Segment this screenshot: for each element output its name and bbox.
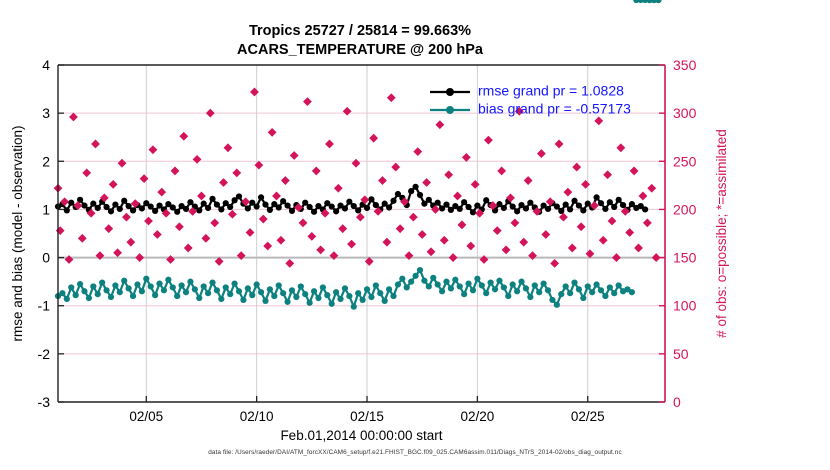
data-point (501, 205, 507, 211)
data-point (165, 277, 171, 283)
data-point (205, 205, 211, 211)
data-point (514, 208, 520, 214)
data-point (262, 202, 268, 208)
data-point (426, 197, 432, 203)
tick-label-right: 50 (673, 346, 689, 362)
data-point (545, 206, 551, 212)
data-point (148, 203, 154, 209)
data-point (611, 290, 617, 296)
data-point (139, 288, 145, 294)
data-point (333, 289, 339, 295)
data-point (81, 202, 87, 208)
data-point (435, 200, 441, 206)
data-point (108, 208, 114, 214)
data-point (412, 273, 418, 279)
data-point (187, 199, 193, 205)
data-point (408, 279, 414, 285)
data-point (602, 206, 608, 212)
tick-label-right: 0 (673, 394, 681, 410)
data-point (368, 196, 374, 202)
data-point (342, 285, 348, 291)
axis-label-left: rmse and bias (model - observation) (10, 125, 25, 341)
data-point (452, 277, 458, 283)
data-point (616, 197, 622, 203)
data-point (593, 194, 599, 200)
data-point (642, 206, 648, 212)
data-point (448, 285, 454, 291)
data-point (355, 207, 361, 213)
data-point (382, 298, 388, 304)
data-point (364, 205, 370, 211)
data-point (183, 289, 189, 295)
legend-marker-rmse (446, 88, 454, 96)
data-point (95, 205, 101, 211)
data-point (152, 208, 158, 214)
data-point (567, 290, 573, 296)
data-point (126, 285, 132, 291)
data-point (284, 299, 290, 305)
data-point (267, 207, 273, 213)
data-point (571, 198, 577, 204)
data-point (139, 205, 145, 211)
tick-label-right: 250 (673, 153, 697, 169)
data-point (240, 297, 246, 303)
data-point (161, 287, 167, 293)
data-point (390, 293, 396, 299)
data-point (73, 292, 79, 298)
data-point (554, 203, 560, 209)
data-point (408, 188, 414, 194)
data-point (307, 204, 313, 210)
data-point (258, 194, 264, 200)
data-point (148, 283, 154, 289)
data-point (99, 280, 105, 286)
data-point (245, 285, 251, 291)
data-point (368, 294, 374, 300)
data-point (629, 289, 635, 295)
data-point (386, 204, 392, 210)
tick-label-bottom: 02/10 (240, 409, 274, 424)
data-point (112, 202, 118, 208)
data-point (59, 290, 65, 296)
data-point (373, 282, 379, 288)
data-point (196, 295, 202, 301)
data-point (271, 293, 277, 299)
legend-label-rmse: rmse grand pr = 1.0828 (478, 83, 624, 99)
data-point (404, 284, 410, 290)
data-point (231, 280, 237, 286)
data-point (64, 207, 70, 213)
data-point (254, 281, 260, 287)
data-point (156, 280, 162, 286)
data-point (465, 280, 471, 286)
data-point (342, 205, 348, 211)
data-point (121, 278, 127, 284)
data-point (585, 283, 591, 289)
data-point (567, 206, 573, 212)
tick-label-right: 100 (673, 298, 697, 314)
data-point (655, 0, 661, 3)
data-point (90, 201, 96, 207)
data-point (130, 293, 136, 299)
data-point (324, 292, 330, 298)
data-point (505, 293, 511, 299)
data-point (510, 281, 516, 287)
data-point (430, 275, 436, 281)
axis-label-bottom: Feb.01,2014 00:00:00 start (280, 428, 442, 443)
data-point (183, 206, 189, 212)
data-point (302, 291, 308, 297)
data-point (214, 287, 220, 293)
data-point (483, 197, 489, 203)
data-point (170, 284, 176, 290)
data-point (360, 297, 366, 303)
data-point (461, 291, 467, 297)
tick-label-right: 300 (673, 105, 697, 121)
tick-label-right: 350 (673, 57, 697, 73)
figure-root: Tropics 25727 / 25814 = 99.663% ACARS_TE… (0, 0, 830, 470)
data-point (174, 293, 180, 299)
data-point (223, 284, 229, 290)
data-point (580, 207, 586, 213)
data-point (209, 196, 215, 202)
data-point (355, 290, 361, 296)
data-point (64, 296, 70, 302)
data-point (541, 280, 547, 286)
data-point (117, 289, 123, 295)
data-point (276, 204, 282, 210)
tick-label-left: 4 (42, 57, 50, 73)
data-point (86, 295, 92, 301)
data-point (236, 288, 242, 294)
data-point (536, 289, 542, 295)
data-point (377, 290, 383, 296)
data-point (616, 282, 622, 288)
data-point (329, 203, 335, 209)
data-point (470, 287, 476, 293)
data-point (576, 202, 582, 208)
tick-label-bottom: 02/25 (571, 409, 605, 424)
data-point (563, 283, 569, 289)
data-point (492, 286, 498, 292)
data-point (117, 206, 123, 212)
data-point (571, 280, 577, 286)
data-point (289, 287, 295, 293)
data-point (417, 267, 423, 273)
tick-label-left: 2 (42, 153, 50, 169)
data-point (545, 287, 551, 293)
data-point (218, 206, 224, 212)
data-point (496, 278, 502, 284)
data-point (103, 287, 109, 293)
data-point (134, 281, 140, 287)
data-point (77, 281, 83, 287)
data-point (523, 285, 529, 291)
data-point (390, 198, 396, 204)
data-point (293, 294, 299, 300)
data-point (254, 203, 260, 209)
plot-canvas: -3-2-10123405010015020025030035002/0502/… (0, 0, 830, 470)
data-point (218, 296, 224, 302)
data-point (501, 284, 507, 290)
tick-label-left: -3 (38, 394, 51, 410)
tick-label-left: 3 (42, 105, 50, 121)
data-point (298, 283, 304, 289)
data-point (532, 282, 538, 288)
data-point (90, 283, 96, 289)
data-point (470, 209, 476, 215)
data-point (510, 203, 516, 209)
data-point (311, 288, 317, 294)
data-point (479, 282, 485, 288)
data-point (611, 204, 617, 210)
data-point (439, 288, 445, 294)
data-point (187, 279, 193, 285)
data-point (593, 281, 599, 287)
data-point (227, 291, 233, 297)
data-point (209, 280, 215, 286)
data-point (333, 208, 339, 214)
data-point (598, 200, 604, 206)
data-point (443, 202, 449, 208)
data-point (346, 199, 352, 205)
data-point (607, 284, 613, 290)
legend-marker-bias (446, 106, 454, 114)
data-point (518, 279, 524, 285)
data-point (103, 204, 109, 210)
tick-label-left: -1 (38, 298, 51, 314)
data-point (421, 278, 427, 284)
tick-label-right: 200 (673, 201, 697, 217)
data-point (267, 286, 273, 292)
data-point (284, 202, 290, 208)
data-point (461, 199, 467, 205)
data-point (170, 204, 176, 210)
data-point (395, 281, 401, 287)
data-point (457, 206, 463, 212)
data-point (315, 295, 321, 301)
data-point (68, 200, 74, 206)
data-point (130, 207, 136, 213)
data-point (474, 276, 480, 282)
data-point (457, 283, 463, 289)
data-point (580, 295, 586, 301)
data-point (386, 286, 392, 292)
data-point (589, 289, 595, 295)
data-point (112, 282, 118, 288)
legend-label-bias: bias grand pr = -0.57173 (478, 101, 631, 117)
data-point (598, 287, 604, 293)
data-point (351, 304, 357, 310)
data-point (563, 202, 569, 208)
data-point (143, 276, 149, 282)
data-point (337, 296, 343, 302)
data-point (435, 281, 441, 287)
data-point (465, 204, 471, 210)
tick-label-right: 150 (673, 250, 697, 266)
data-point (262, 298, 268, 304)
data-point (201, 201, 207, 207)
tick-label-bottom: 02/20 (460, 409, 494, 424)
data-point (488, 280, 494, 286)
data-point (311, 209, 317, 215)
data-file-caption: data file: /Users/raeder/DAI/ATM_forcXX/… (0, 449, 830, 456)
data-point (351, 203, 357, 209)
data-point (276, 282, 282, 288)
data-point (81, 288, 87, 294)
tick-label-bottom: 02/15 (350, 409, 384, 424)
data-point (417, 192, 423, 198)
data-point (214, 202, 220, 208)
axis-label-right: # of obs: o=possible; *=assimilated (714, 129, 729, 338)
data-point (179, 282, 185, 288)
data-point (602, 293, 608, 299)
tick-label-left: 1 (42, 201, 50, 217)
data-point (307, 300, 313, 306)
data-point (68, 284, 74, 290)
data-point (126, 203, 132, 209)
tick-label-left: 0 (42, 250, 50, 266)
data-point (558, 291, 564, 297)
data-point (196, 207, 202, 213)
data-point (95, 291, 101, 297)
data-point (527, 200, 533, 206)
data-point (329, 301, 335, 307)
tick-label-left: -2 (38, 346, 51, 362)
data-point (192, 286, 198, 292)
data-point (121, 198, 127, 204)
data-point (205, 290, 211, 296)
data-point (108, 294, 114, 300)
data-point (399, 276, 405, 282)
data-point (364, 286, 370, 292)
data-point (258, 289, 264, 295)
data-point (249, 292, 255, 298)
tick-label-bottom: 02/05 (129, 409, 163, 424)
data-point (227, 204, 233, 210)
data-point (236, 193, 242, 199)
data-point (280, 198, 286, 204)
data-point (174, 209, 180, 215)
data-point (443, 279, 449, 285)
data-point (554, 302, 560, 308)
data-point (302, 200, 308, 206)
data-point (152, 292, 158, 298)
data-point (576, 286, 582, 292)
data-point (320, 284, 326, 290)
data-point (346, 293, 352, 299)
data-point (201, 283, 207, 289)
data-point (289, 208, 295, 214)
data-point (514, 288, 520, 294)
data-point (549, 297, 555, 303)
data-point (245, 205, 251, 211)
data-point (523, 205, 529, 211)
data-point (527, 294, 533, 300)
data-point (280, 290, 286, 296)
data-point (483, 290, 489, 296)
data-point (607, 199, 613, 205)
data-point (426, 283, 432, 289)
data-point (412, 184, 418, 190)
